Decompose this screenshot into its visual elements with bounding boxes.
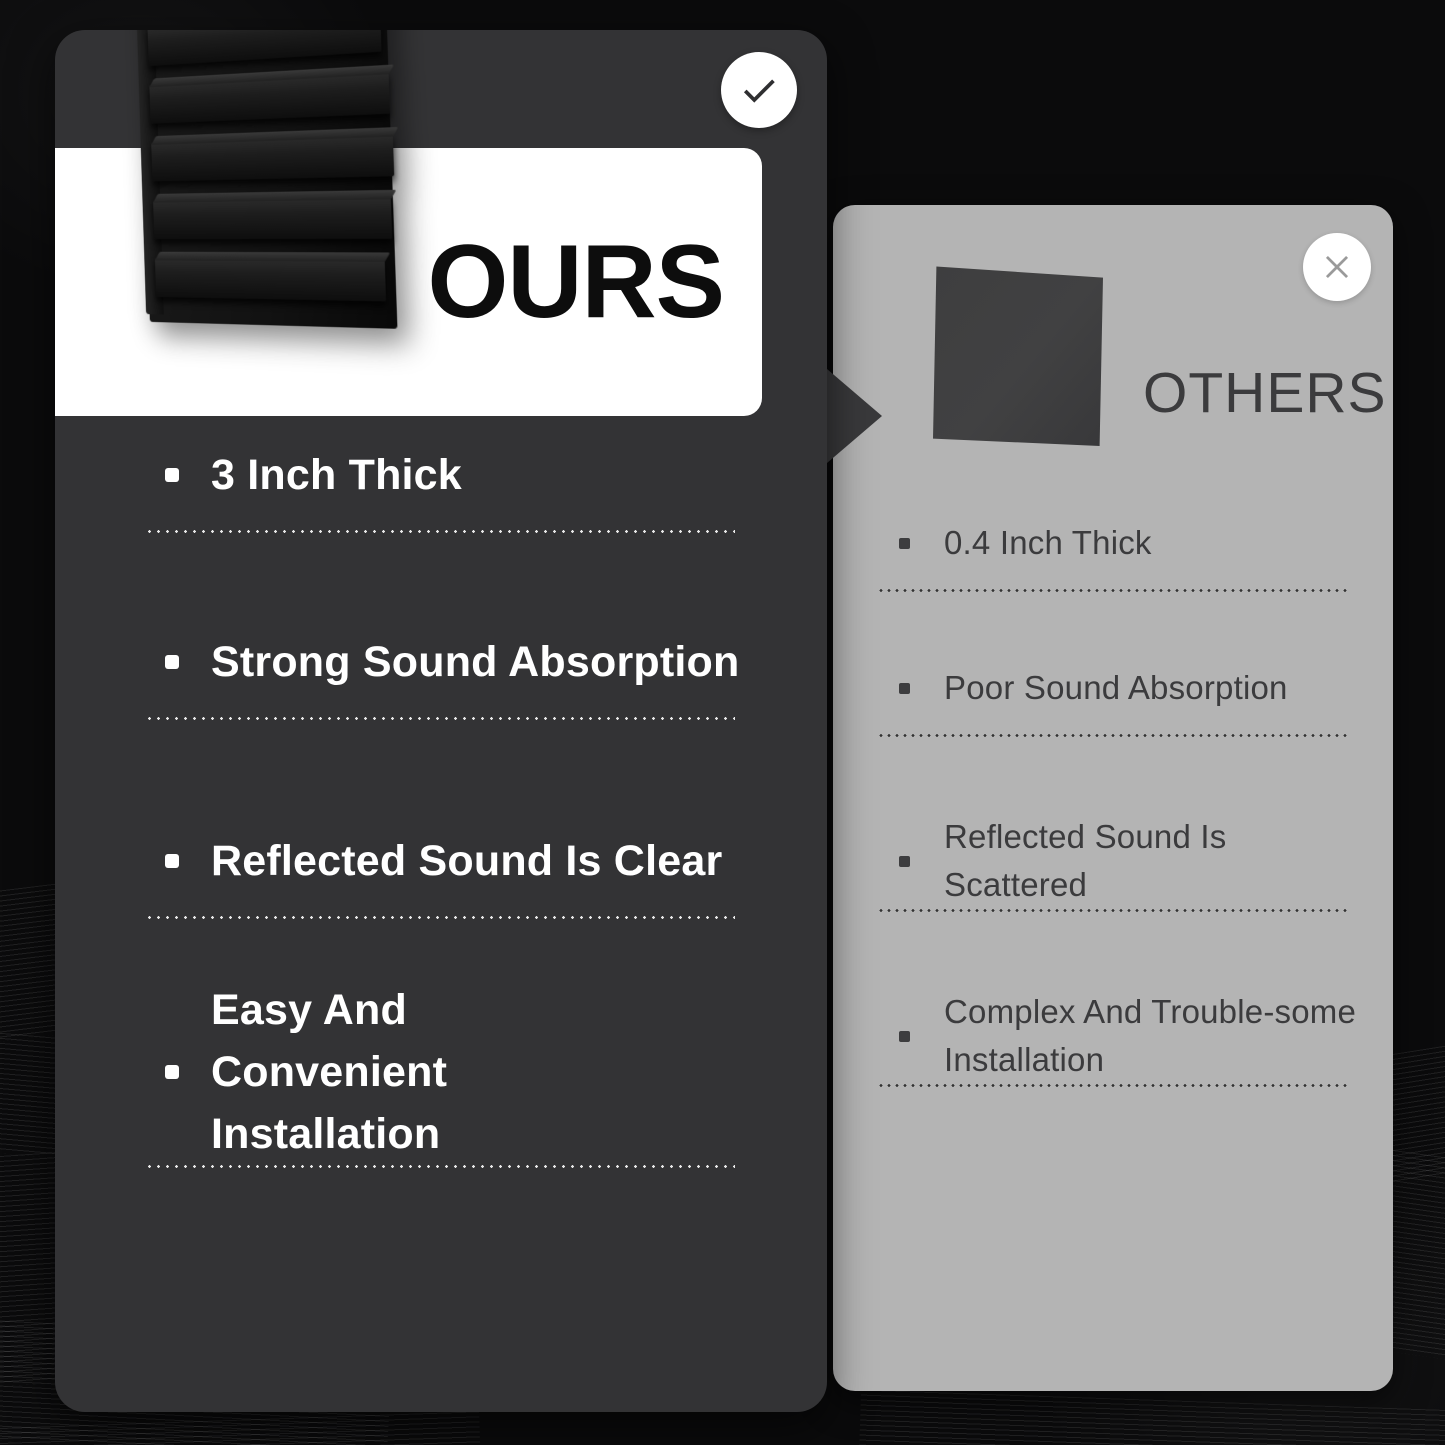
others-feature-label: Reflected Sound Is Scattered xyxy=(944,813,1359,909)
ours-card: OURS 3 Inch Thick xyxy=(55,30,827,1412)
ours-feature-label: Strong Sound Absorption xyxy=(211,631,739,693)
others-feature-list: 0.4 Inch Thick Poor Sound Absorption Ref… xyxy=(833,497,1393,1087)
dotted-divider xyxy=(145,1165,735,1168)
x-icon xyxy=(1303,233,1371,301)
foam-slat xyxy=(155,258,386,301)
bullet-icon xyxy=(165,1065,179,1079)
others-feature-label: Complex And Trouble-some Installation xyxy=(944,988,1359,1084)
list-item: Poor Sound Absorption xyxy=(833,642,1393,734)
bullet-icon xyxy=(899,538,910,549)
ours-title: OURS xyxy=(428,230,724,334)
bullet-icon xyxy=(165,468,179,482)
foam-slat xyxy=(151,135,394,182)
bullet-icon xyxy=(899,1031,910,1042)
list-item: Easy And Convenient Installation xyxy=(55,979,827,1165)
ours-feature-label: 3 Inch Thick xyxy=(211,444,462,506)
list-item: 0.4 Inch Thick xyxy=(833,497,1393,589)
list-item: Strong Sound Absorption xyxy=(55,607,827,717)
bullet-icon xyxy=(165,655,179,669)
bullet-icon xyxy=(165,854,179,868)
ours-feature-list: 3 Inch Thick Strong Sound Absorption Ref… xyxy=(55,420,827,1168)
wave-line-group xyxy=(859,1390,1445,1445)
ours-card-header: OURS xyxy=(55,30,827,420)
dotted-divider xyxy=(877,1084,1349,1087)
list-item: Complex And Trouble-some Installation xyxy=(833,988,1393,1084)
check-icon xyxy=(721,52,797,128)
others-card-header: OTHERS xyxy=(833,205,1393,435)
others-card: OTHERS 0.4 Inch Thick Poor Sound Absorpt xyxy=(833,205,1393,1391)
list-item: 3 Inch Thick xyxy=(55,420,827,530)
list-item: Reflected Sound Is Clear xyxy=(55,806,827,916)
foam-slat xyxy=(153,197,392,239)
ours-feature-label: Easy And Convenient Installation xyxy=(211,979,575,1165)
others-product-image xyxy=(933,261,1103,446)
ours-feature-label: Reflected Sound Is Clear xyxy=(211,830,722,892)
comparison-infographic: OTHERS 0.4 Inch Thick Poor Sound Absorpt xyxy=(0,0,1445,1445)
ours-product-image xyxy=(123,30,423,330)
others-title: OTHERS xyxy=(1143,360,1387,426)
wave-line-group xyxy=(0,1411,481,1445)
others-feature-label: 0.4 Inch Thick xyxy=(944,519,1152,567)
list-item: Reflected Sound Is Scattered xyxy=(833,813,1393,909)
bullet-icon xyxy=(899,856,910,867)
others-feature-label: Poor Sound Absorption xyxy=(944,664,1288,712)
bullet-icon xyxy=(899,683,910,694)
